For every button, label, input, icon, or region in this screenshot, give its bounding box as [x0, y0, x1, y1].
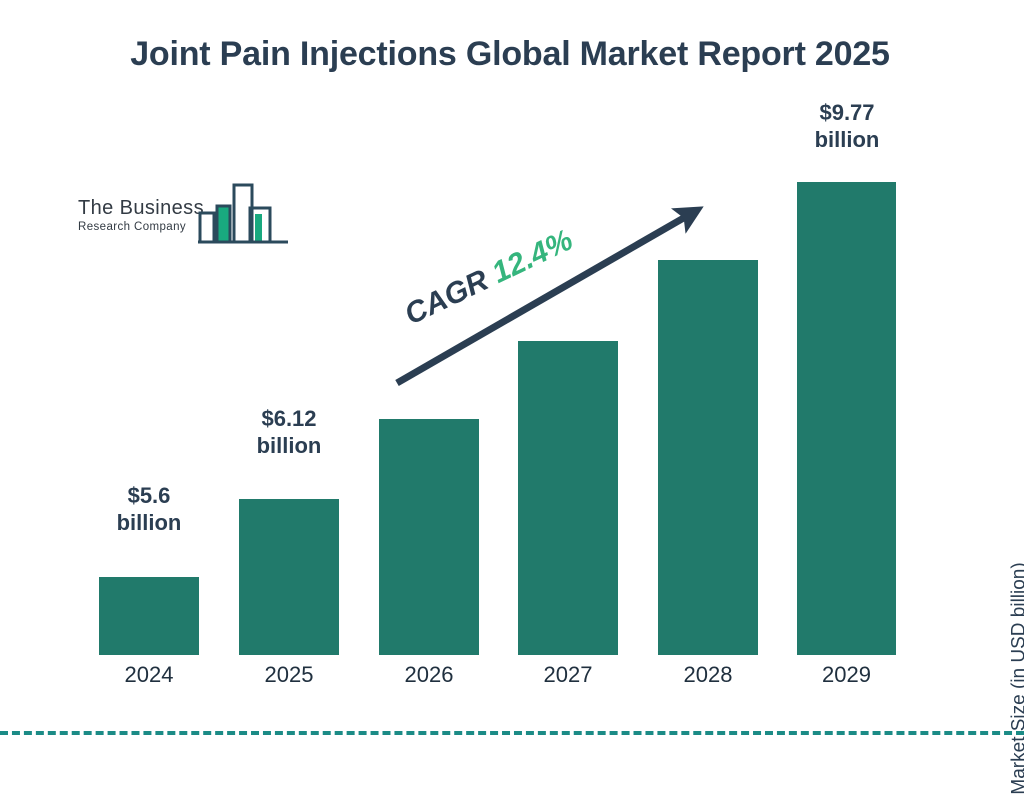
bar-value-2029: $9.77 billion: [777, 100, 917, 154]
chart-canvas: Joint Pain Injections Global Market Repo…: [0, 0, 1024, 768]
bar-2028: [658, 260, 758, 655]
bar-value-2029-unit: billion: [815, 127, 880, 152]
cagr-value: 12.4%: [487, 223, 578, 289]
bar-value-2025-unit: billion: [257, 433, 322, 458]
cagr-annotation: CAGR 12.4%: [400, 223, 579, 332]
x-tick-2025: 2025: [239, 662, 339, 688]
bar-value-2025: $6.12 billion: [219, 406, 359, 460]
bar-2024: [99, 577, 199, 655]
bar-2027: [518, 341, 618, 655]
bar-value-2025-amount: $6.12: [261, 406, 316, 431]
x-tick-2024: 2024: [99, 662, 199, 688]
bar-value-2024: $5.6 billion: [79, 483, 219, 537]
bar-value-2024-unit: billion: [117, 510, 182, 535]
bar-value-2029-amount: $9.77: [819, 100, 874, 125]
x-tick-2027: 2027: [518, 662, 618, 688]
bar-2029: [797, 182, 896, 655]
bar-value-2024-amount: $5.6: [128, 483, 171, 508]
x-tick-2028: 2028: [658, 662, 758, 688]
cagr-label: CAGR: [400, 264, 494, 332]
y-axis-title: Market Size (in USD billion): [1008, 562, 1024, 794]
x-tick-2029: 2029: [797, 662, 896, 688]
bar-2026: [379, 419, 479, 655]
bar-chart-plot: $5.6 billion $6.12 billion $9.77 billion…: [0, 0, 1024, 768]
bar-2025: [239, 499, 339, 655]
bottom-divider: [0, 731, 1024, 735]
x-tick-2026: 2026: [379, 662, 479, 688]
